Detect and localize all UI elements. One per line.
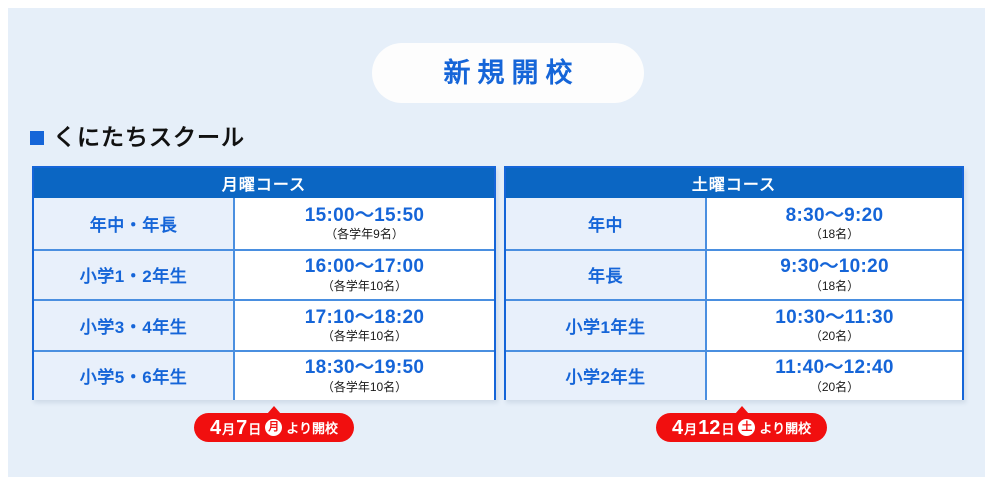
page-title: 新規開校: [437, 60, 580, 87]
row-time: 10:30〜11:30: [775, 307, 893, 329]
badge-month-unit: 月: [222, 423, 235, 436]
row-label: 年長: [506, 251, 707, 300]
row-time: 9:30〜10:20: [780, 256, 889, 278]
badge-pill: 4 月 7 日 月 より開校: [194, 413, 354, 442]
blue-square-icon: [30, 131, 44, 145]
row-time: 18:30〜19:50: [305, 357, 425, 379]
row-time-cell: 18:30〜19:50 （各学年10名）: [235, 352, 494, 401]
badge-month-number: 4: [672, 418, 683, 438]
table-body-saturday: 年中 8:30〜9:20 （18名） 年長 9:30〜10:20 （18名） 小…: [506, 198, 962, 400]
row-capacity: （各学年10名）: [322, 329, 407, 343]
badge-tail-label: より開校: [286, 422, 338, 435]
row-capacity: （各学年10名）: [322, 279, 407, 293]
table-row: 小学3・4年生 17:10〜18:20 （各学年10名）: [34, 299, 494, 350]
row-label: 小学2年生: [506, 352, 707, 401]
table-row: 年中 8:30〜9:20 （18名）: [506, 198, 962, 249]
table-row: 年長 9:30〜10:20 （18名）: [506, 249, 962, 300]
row-capacity: （各学年10名）: [322, 380, 407, 394]
row-label: 年中・年長: [34, 198, 235, 249]
row-time-cell: 8:30〜9:20 （18名）: [707, 198, 962, 249]
badge-day-number: 7: [236, 418, 247, 438]
row-time-cell: 10:30〜11:30 （20名）: [707, 301, 962, 350]
schedule-table-monday: 月曜コース 年中・年長 15:00〜15:50 （各学年9名） 小学1・2年生 …: [32, 166, 496, 400]
row-time-cell: 17:10〜18:20 （各学年10名）: [235, 301, 494, 350]
opening-date-badge-monday: 4 月 7 日 月 より開校: [194, 406, 354, 442]
table-row: 小学1年生 10:30〜11:30 （20名）: [506, 299, 962, 350]
new-opening-title-pill: 新規開校: [372, 43, 644, 103]
school-name-label: くにたちスクール: [53, 126, 245, 149]
badge-pill: 4 月 12 日 土 より開校: [656, 413, 827, 442]
row-label: 年中: [506, 198, 707, 249]
row-capacity: （18名）: [810, 227, 859, 241]
row-label: 小学1年生: [506, 301, 707, 350]
row-capacity: （20名）: [810, 329, 859, 343]
table-header-monday: 月曜コース: [34, 168, 494, 198]
badge-day-number: 12: [698, 418, 720, 438]
badge-weekday-circle: 土: [738, 419, 755, 436]
row-time: 16:00〜17:00: [305, 256, 425, 278]
row-time-cell: 9:30〜10:20 （18名）: [707, 251, 962, 300]
schedule-table-saturday: 土曜コース 年中 8:30〜9:20 （18名） 年長 9:30〜10:20 （…: [504, 166, 964, 400]
table-header-saturday: 土曜コース: [506, 168, 962, 198]
table-row: 小学1・2年生 16:00〜17:00 （各学年10名）: [34, 249, 494, 300]
row-time: 15:00〜15:50: [305, 205, 425, 227]
page-root: 新規開校 くにたちスクール 月曜コース 年中・年長 15:00〜15:50 （各…: [0, 0, 1000, 477]
row-time: 17:10〜18:20: [305, 307, 425, 329]
school-heading: くにたちスクール: [30, 126, 245, 149]
badge-pointer-icon: [735, 406, 749, 414]
row-capacity: （20名）: [810, 380, 859, 394]
row-time-cell: 11:40〜12:40 （20名）: [707, 352, 962, 401]
table-row: 年中・年長 15:00〜15:50 （各学年9名）: [34, 198, 494, 249]
row-label: 小学5・6年生: [34, 352, 235, 401]
badge-month-unit: 月: [684, 423, 697, 436]
row-label: 小学3・4年生: [34, 301, 235, 350]
row-capacity: （各学年9名）: [325, 227, 404, 241]
row-time-cell: 16:00〜17:00 （各学年10名）: [235, 251, 494, 300]
table-row: 小学2年生 11:40〜12:40 （20名）: [506, 350, 962, 401]
badge-weekday-circle: 月: [265, 419, 282, 436]
badge-tail-label: より開校: [759, 422, 811, 435]
badge-day-unit: 日: [248, 423, 261, 436]
opening-date-badge-saturday: 4 月 12 日 土 より開校: [656, 406, 827, 442]
table-row: 小学5・6年生 18:30〜19:50 （各学年10名）: [34, 350, 494, 401]
row-time: 8:30〜9:20: [786, 205, 884, 227]
row-capacity: （18名）: [810, 279, 859, 293]
table-body-monday: 年中・年長 15:00〜15:50 （各学年9名） 小学1・2年生 16:00〜…: [34, 198, 494, 400]
badge-pointer-icon: [267, 406, 281, 414]
row-time-cell: 15:00〜15:50 （各学年9名）: [235, 198, 494, 249]
badge-month-number: 4: [210, 418, 221, 438]
badge-day-unit: 日: [721, 423, 734, 436]
row-label: 小学1・2年生: [34, 251, 235, 300]
row-time: 11:40〜12:40: [775, 357, 893, 379]
